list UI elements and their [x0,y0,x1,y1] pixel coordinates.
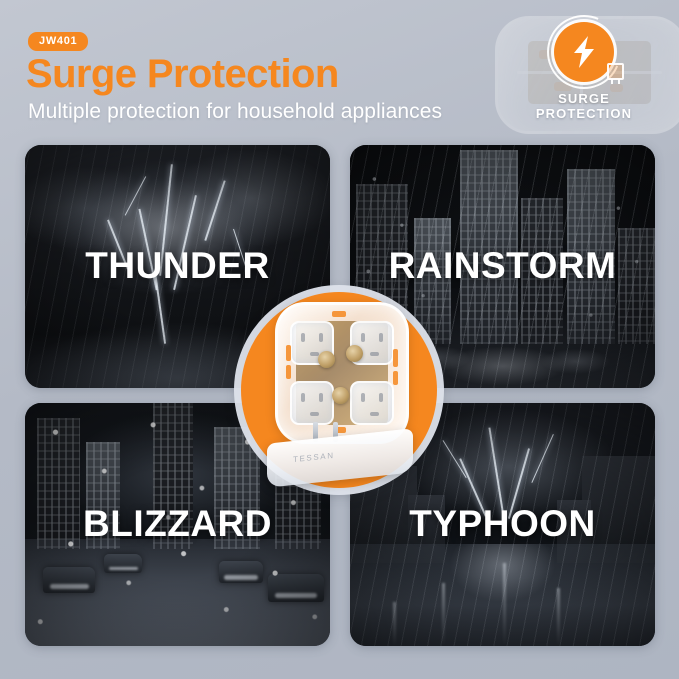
product-housing [275,302,409,444]
surge-protection-emblem: SURGE PROTECTION [523,22,645,121]
tile-label-blizzard: BLIZZARD [25,503,330,545]
product-image: TESSAN [267,296,413,482]
surge-label-line1: SURGE [536,91,632,106]
corner-surge-badge: SURGE PROTECTION [489,0,679,150]
plug-icon [607,63,624,80]
component [286,345,291,361]
surge-icon-circle [554,22,614,82]
product-poster: SURGE PROTECTION JW401 Surge Protection … [0,0,679,679]
outlet-socket-4 [350,381,394,425]
model-badge: JW401 [28,32,88,51]
center-product-circle: TESSAN [241,292,437,488]
surge-badge-label: SURGE PROTECTION [536,91,632,121]
outlet-socket-3 [290,381,334,425]
page-subtitle: Multiple protection for household applia… [28,99,442,125]
tile-label-thunder: THUNDER [25,245,330,287]
surge-label-line2: PROTECTION [536,106,632,121]
transformer-coil [346,345,363,362]
page-title: Surge Protection [26,50,339,98]
transformer-coil [318,351,335,368]
component [393,349,398,367]
component [332,311,346,317]
tile-label-rainstorm: RAINSTORM [350,245,655,287]
component [286,365,291,379]
component [393,371,398,385]
transformer-coil [332,387,349,404]
tile-label-typhoon: TYPHOON [350,503,655,545]
